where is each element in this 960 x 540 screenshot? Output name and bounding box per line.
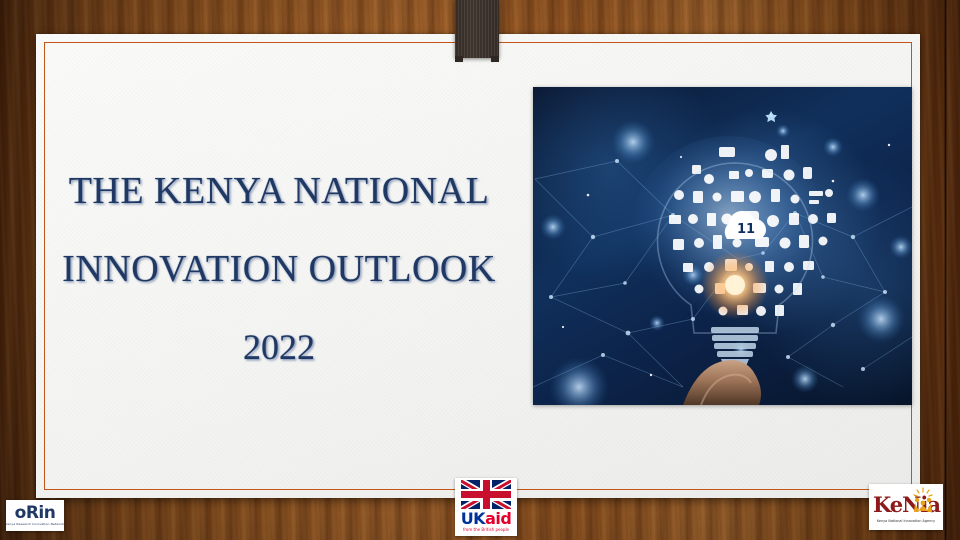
- presentation-slide: THE KENYA NATIONAL INNOVATION OUTLOOK 20…: [0, 0, 960, 540]
- hero-image-artwork: 11: [533, 87, 912, 405]
- orin-logo-tagline: Kenya Research Innovation Network: [6, 522, 64, 527]
- ukaid-logo-tagline: from the British people: [463, 527, 509, 533]
- ukaid-aid-text: aid: [485, 509, 511, 528]
- orin-logo: oRin Kenya Research Innovation Network: [6, 500, 64, 531]
- clip-foot-left: [455, 56, 463, 62]
- ukaid-logo: UKaid from the British people: [455, 478, 517, 536]
- kenia-logo: KeNia Kenya National: [869, 484, 943, 530]
- title-line-1: THE KENYA NATIONAL: [44, 152, 514, 230]
- title-line-year: 2022: [44, 308, 514, 386]
- title-line-2: INNOVATION OUTLOOK: [44, 230, 514, 308]
- union-jack-flag-icon: [461, 480, 511, 509]
- innovation-lightbulb-image: 11: [533, 87, 912, 405]
- ukaid-uk-text: UK: [461, 509, 485, 528]
- ukaid-logo-wordmark: UKaid: [461, 510, 512, 527]
- svg-text:11: 11: [737, 222, 755, 237]
- wood-board-seam: [944, 0, 947, 540]
- kenia-people-burst-icon: [911, 487, 935, 513]
- clip-foot-right: [491, 56, 499, 62]
- slide-title: THE KENYA NATIONAL INNOVATION OUTLOOK 20…: [44, 152, 514, 386]
- top-clip-strap-icon: [455, 0, 499, 58]
- kenia-logo-mark: KeNia: [869, 490, 943, 520]
- orin-logo-wordmark: oRin: [15, 505, 56, 522]
